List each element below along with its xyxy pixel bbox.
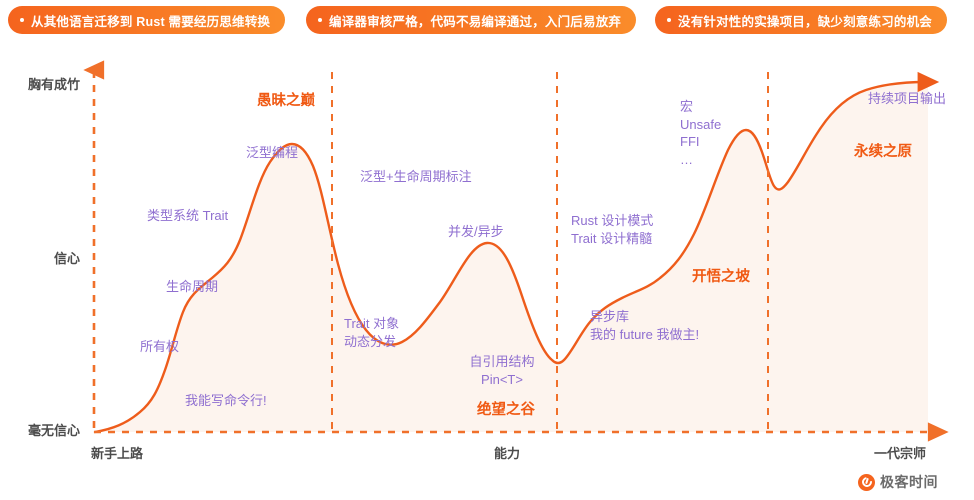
stage-label-valley: 绝望之谷	[477, 401, 535, 421]
annotation-async-library: 异步库 我的 future 我做主!	[590, 308, 699, 343]
annotation-macro-unsafe-ffi: 宏 Unsafe FFI …	[680, 98, 721, 168]
pain-point-pill-3[interactable]: 没有针对性的实操项目，缺少刻意练习的机会	[655, 6, 947, 34]
pain-point-pill-1[interactable]: 从其他语言迁移到 Rust 需要经历思维转换	[8, 6, 285, 34]
annotation-generic-lifetime: 泛型+生命周期标注	[360, 168, 472, 186]
annotation-concurrency: 并发/异步	[448, 223, 504, 241]
y-tick-mid: 信心	[0, 250, 80, 268]
pain-point-pill-3-label: 没有针对性的实操项目，缺少刻意练习的机会	[678, 11, 932, 30]
annotation-lifetime: 生命周期	[166, 278, 218, 296]
pain-point-pill-2[interactable]: 编译器审核严格，代码不易编译通过，入门后易放弃	[306, 6, 636, 34]
stage-label-slope: 开悟之坡	[692, 268, 750, 288]
learning-curve-chart: 胸有成竹 信心 毫无信心 新手上路 能力 一代宗师 愚昧之巅 绝望之谷 开悟之坡…	[0, 40, 974, 480]
bullet-dot-icon	[667, 18, 671, 22]
brand-logo-text: 极客时间	[880, 472, 938, 492]
geek-time-logo-icon	[858, 474, 875, 491]
annotation-design-patterns: Rust 设计模式 Trait 设计精髓	[571, 212, 653, 247]
annotation-pin-self-referential: 自引用结构 Pin<T>	[447, 353, 557, 388]
bullet-dot-icon	[20, 18, 24, 22]
pain-point-banner: 从其他语言迁移到 Rust 需要经历思维转换 编译器审核严格，代码不易编译通过，…	[0, 4, 974, 36]
y-tick-bottom: 毫无信心	[0, 422, 80, 440]
stage-label-plateau: 永续之原	[854, 143, 912, 163]
annotation-trait-object: Trait 对象 动态分发	[344, 315, 399, 350]
annotation-commandline: 我能写命令行!	[185, 392, 267, 410]
x-tick-mid: 能力	[494, 445, 520, 463]
x-tick-right: 一代宗师	[874, 445, 926, 463]
bullet-dot-icon	[318, 18, 322, 22]
annotation-typesystem: 类型系统 Trait	[147, 207, 228, 225]
pain-point-pill-2-label: 编译器审核严格，代码不易编译通过，入门后易放弃	[329, 11, 621, 30]
stage-label-peak: 愚昧之巅	[257, 92, 315, 112]
pain-point-pill-1-label: 从其他语言迁移到 Rust 需要经历思维转换	[31, 11, 270, 30]
annotation-ownership: 所有权	[140, 338, 179, 356]
x-tick-left: 新手上路	[91, 445, 143, 463]
y-tick-top: 胸有成竹	[0, 76, 80, 94]
annotation-generic-programming: 泛型编程	[246, 144, 298, 162]
annotation-continuous-output: 持续项目输出	[868, 90, 946, 108]
brand-logo: 极客时间	[858, 472, 938, 492]
